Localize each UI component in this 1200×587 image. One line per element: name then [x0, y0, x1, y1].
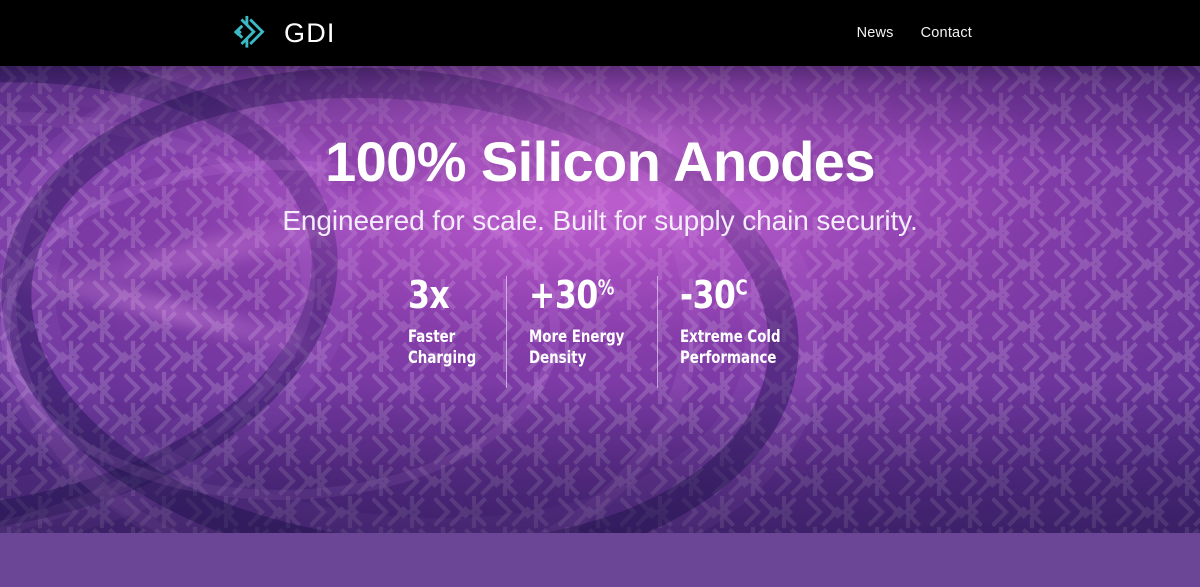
- stat-value-main: 3x: [408, 273, 449, 317]
- nav-link-contact[interactable]: Contact: [921, 25, 972, 41]
- brand-wordmark: GDI: [284, 20, 336, 47]
- stat-value-main: -30: [680, 273, 735, 317]
- stat-more-energy-density: +30% More Energy Density: [507, 276, 657, 388]
- bottom-color-band: [0, 533, 1200, 587]
- stat-value-main: +30: [529, 273, 598, 317]
- page-root: 100% Silicon Anodes Engineered for scale…: [0, 0, 1200, 587]
- gdi-chevron-diamond-logo-icon: [230, 13, 270, 53]
- hero-headline: 100% Silicon Anodes: [325, 133, 875, 192]
- stat-extreme-cold-performance: -30C Extreme Cold Performance: [658, 276, 792, 388]
- hero-stats-row: 3x Faster Charging +30% More Energy Dens…: [408, 276, 791, 388]
- brand-logo[interactable]: GDI: [230, 0, 336, 66]
- nav-link-news[interactable]: News: [857, 25, 894, 41]
- stat-faster-charging: 3x Faster Charging: [408, 276, 506, 388]
- site-header: GDI News Contact: [0, 0, 1200, 66]
- stat-label-faster-charging: Faster Charging: [408, 326, 476, 368]
- hero-section: 100% Silicon Anodes Engineered for scale…: [0, 0, 1200, 533]
- main-nav: News Contact: [857, 0, 972, 66]
- stat-label-more-energy-density: More Energy Density: [529, 326, 624, 368]
- hero-subheadline: Engineered for scale. Built for supply c…: [270, 205, 930, 236]
- stat-value-more-energy-density: +30%: [529, 276, 626, 314]
- stat-label-extreme-cold-performance: Extreme Cold Performance: [680, 326, 781, 368]
- hero-content: 100% Silicon Anodes Engineered for scale…: [0, 0, 1200, 533]
- stat-value-superscript: %: [598, 276, 614, 300]
- stat-value-extreme-cold-performance: -30C: [680, 276, 783, 314]
- stat-value-faster-charging: 3x: [408, 276, 478, 314]
- stat-value-superscript: C: [735, 276, 747, 300]
